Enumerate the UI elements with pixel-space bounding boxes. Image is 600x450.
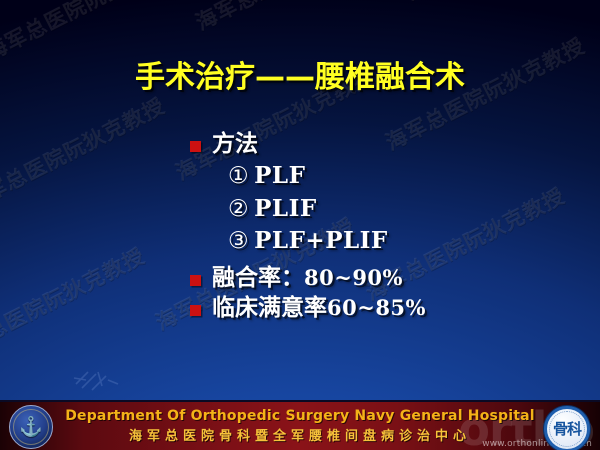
- circled-number-icon: ①: [228, 163, 249, 189]
- footer-bar: ortho Department Of Orthopedic Surgery N…: [0, 400, 600, 450]
- background-artifact: [72, 368, 132, 396]
- square-bullet-icon: [190, 275, 201, 286]
- fusion-rate-label: 融合率：: [212, 265, 304, 291]
- fusion-rate-value: 80~90%: [304, 265, 403, 290]
- square-bullet-icon: [190, 141, 201, 152]
- method-list-item: ③PLF+PLIF: [228, 225, 590, 258]
- orthopedic-center-emblem-icon: 骨科: [544, 406, 590, 450]
- method-list-item: ②PLIF: [228, 193, 590, 226]
- bullet-item-method: 方法: [190, 130, 590, 158]
- emblem-ring: [549, 411, 585, 447]
- satisfaction-line: 临床满意率60~85%: [212, 294, 426, 322]
- method-label: PLF: [254, 162, 305, 189]
- slide-body: 方法 ①PLF ②PLIF ③PLF+PLIF 融合率：80~90% 临床满意率…: [190, 130, 590, 324]
- emblem-ring: [13, 409, 49, 445]
- watermark-text: 海军总医院阮狄克教授: [0, 240, 150, 367]
- satisfaction-value: 60~85%: [327, 295, 426, 320]
- watermark-text: 海军总医院阮狄克教授: [0, 90, 170, 217]
- method-label: PLF+PLIF: [254, 227, 388, 254]
- satisfaction-label: 临床满意率: [212, 295, 327, 321]
- square-bullet-icon: [190, 305, 201, 316]
- method-list-item: ①PLF: [228, 160, 590, 193]
- fusion-rate-line: 融合率：80~90%: [212, 264, 403, 292]
- circled-number-icon: ②: [228, 196, 249, 222]
- slide-title: 手术治疗——腰椎融合术: [0, 52, 600, 96]
- footer-english-title: Department Of Orthopedic Surgery Navy Ge…: [65, 408, 535, 424]
- presentation-slide: 海军总医院阮狄克教授 海军总医院阮狄克教授 海军总医院阮狄克教授 海军总医院阮狄…: [0, 0, 600, 450]
- navy-hospital-emblem-icon: ⚓: [9, 405, 53, 449]
- bullet-item-fusion-rate: 融合率：80~90%: [190, 264, 590, 292]
- bullet-item-satisfaction: 临床满意率60~85%: [190, 294, 590, 322]
- method-label: PLIF: [254, 195, 317, 222]
- watermark-text: 海军总医院阮狄克教授: [400, 0, 600, 7]
- watermark-text: 海军总医院阮狄克教授: [190, 0, 400, 37]
- footer-chinese-title: 海军总医院骨科暨全军腰椎间盘病诊治中心: [129, 425, 471, 444]
- method-heading: 方法: [212, 130, 258, 158]
- circled-number-icon: ③: [228, 228, 249, 254]
